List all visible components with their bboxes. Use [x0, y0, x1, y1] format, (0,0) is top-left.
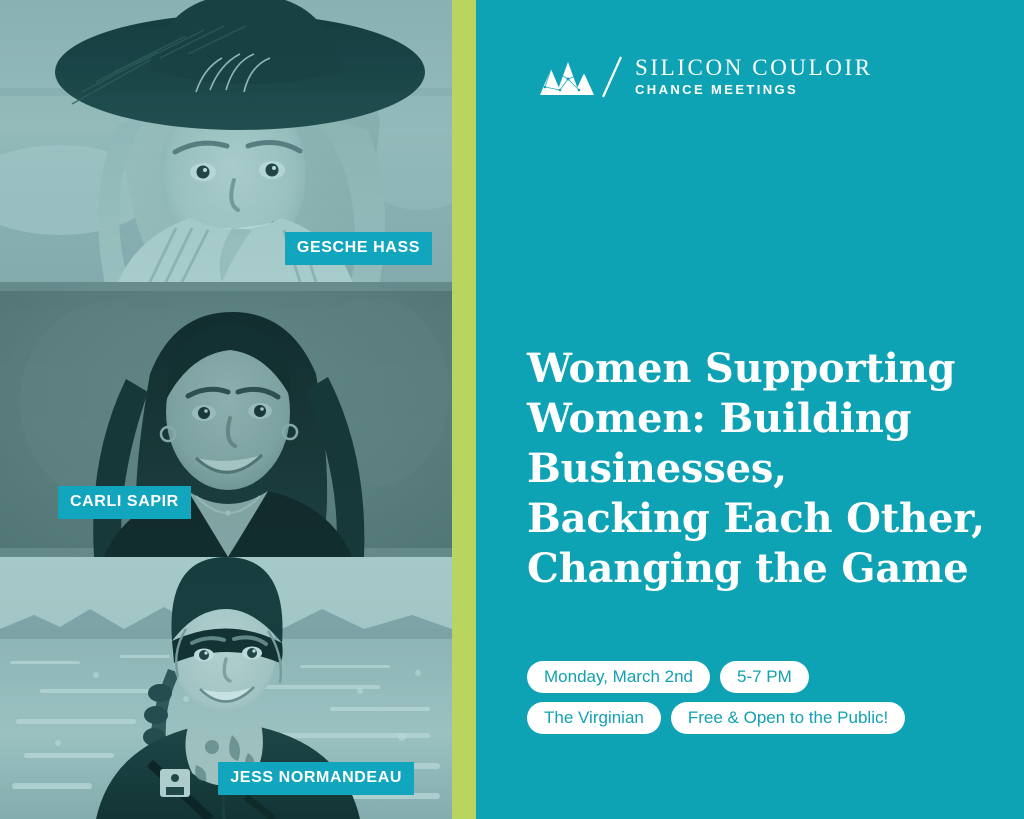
event-details: Monday, March 2nd 5-7 PM The Virginian F…	[527, 661, 1007, 743]
detail-pill-date: Monday, March 2nd	[527, 661, 710, 693]
detail-pill-time: 5-7 PM	[720, 661, 809, 693]
diagonal-slash-icon	[599, 55, 625, 99]
speaker-photo-carli-sapir: CARLI SAPIR	[0, 282, 452, 557]
content-panel: SILICON COULOIR CHANCE MEETINGS Women Su…	[476, 0, 1024, 819]
title-line-2: Women: Building	[527, 394, 997, 444]
mountain-peaks-logo-icon	[527, 57, 601, 97]
speaker-photo-column: GESCHE HASS	[0, 0, 452, 819]
speaker-photo-gesche-hass: GESCHE HASS	[0, 0, 452, 282]
title-line-4: Backing Each Other,	[527, 494, 997, 544]
detail-row-1: Monday, March 2nd 5-7 PM	[527, 661, 1007, 693]
speaker-name-tag: GESCHE HASS	[285, 232, 432, 265]
green-divider-stripe	[452, 0, 476, 819]
title-line-5: Changing the Game	[527, 544, 997, 594]
title-line-3: Businesses,	[527, 444, 997, 494]
detail-pill-venue: The Virginian	[527, 702, 661, 734]
detail-pill-admission: Free & Open to the Public!	[671, 702, 905, 734]
speaker-name-tag: CARLI SAPIR	[58, 486, 191, 519]
event-poster: GESCHE HASS	[0, 0, 1024, 819]
speaker-name-tag: JESS NORMANDEAU	[218, 762, 414, 795]
speaker-photo-jess-normandeau: JESS NORMANDEAU	[0, 557, 452, 819]
brand-logo: SILICON COULOIR CHANCE MEETINGS	[527, 55, 873, 99]
detail-row-2: The Virginian Free & Open to the Public!	[527, 702, 1007, 734]
brand-tagline: CHANCE MEETINGS	[635, 82, 873, 98]
event-title: Women Supporting Women: Building Busines…	[527, 344, 997, 594]
brand-wordmark: SILICON COULOIR CHANCE MEETINGS	[635, 56, 873, 98]
brand-name: SILICON COULOIR	[635, 56, 873, 80]
title-line-1: Women Supporting	[527, 344, 997, 394]
